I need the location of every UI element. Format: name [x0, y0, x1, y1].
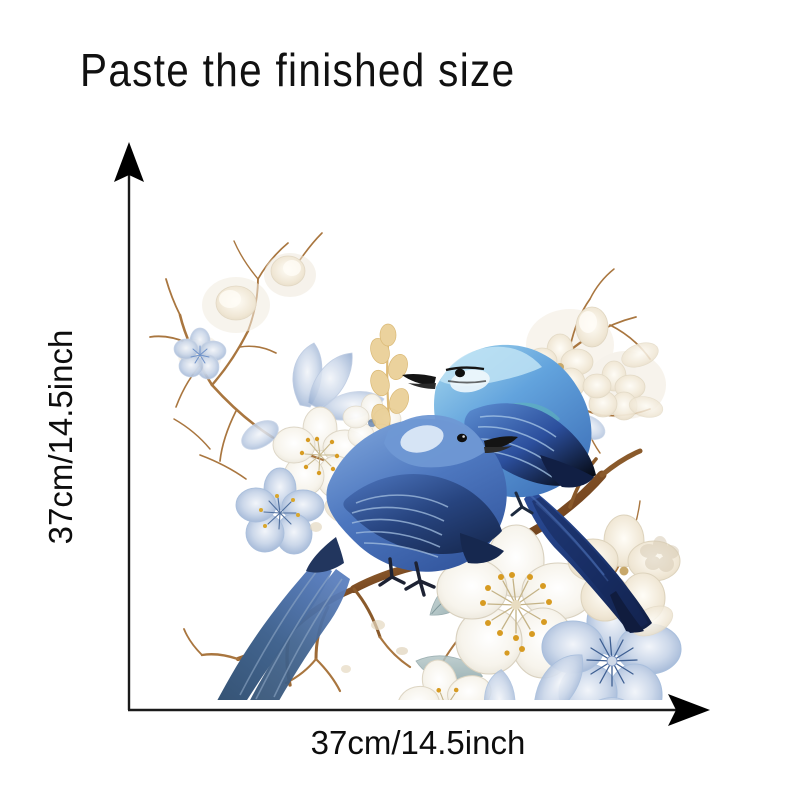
bird-upper-eye	[455, 369, 465, 377]
blossom-cream	[576, 307, 608, 347]
page-title: Paste the finished size	[80, 42, 515, 98]
blossom-bud	[216, 286, 256, 320]
bird-lower-eye	[457, 434, 467, 442]
artwork-illustration	[140, 155, 690, 700]
blossom-bud	[271, 256, 305, 286]
golden-sprig	[367, 324, 412, 437]
size-reference-page: Paste the finished size	[0, 0, 800, 800]
vertical-axis-label: 37cm/14.5inch	[42, 277, 80, 597]
horizontal-axis-label: 37cm/14.5inch	[128, 724, 708, 762]
blossom-blue-small	[174, 328, 226, 379]
